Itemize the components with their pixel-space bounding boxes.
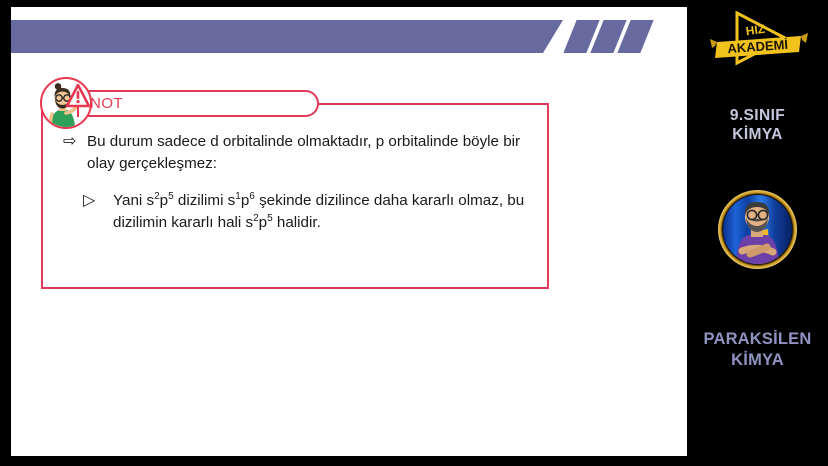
note-body: ⇨ Bu durum sadece d orbitalinde olmaktad… xyxy=(63,131,535,237)
note-paragraph-1: ⇨ Bu durum sadece d orbitalinde olmaktad… xyxy=(63,131,535,174)
course-grade-line2: KİMYA xyxy=(687,125,828,144)
right-arrow-bullet-icon: ⇨ xyxy=(63,131,87,174)
slide-canvas: ⇨ Bu durum sadece d orbitalinde olmaktad… xyxy=(11,7,687,456)
note-card: ⇨ Bu durum sadece d orbitalinde olmaktad… xyxy=(41,103,549,289)
right-sidebar: HIZ AKADEMİ 9.SINIF KİMYA xyxy=(687,0,828,466)
note-label-text: NOT xyxy=(90,95,123,112)
slide-header-decoration xyxy=(11,20,687,53)
course-grade-title: 9.SINIF KİMYA xyxy=(687,106,828,145)
note-paragraph-1-text: Bu durum sadece d orbitalinde olmaktadır… xyxy=(87,131,535,174)
note-paragraph-2-text: Yani s2p5 dizilimi s1p6 şekinde dizilinc… xyxy=(113,190,535,233)
instructor-avatar xyxy=(718,190,797,269)
brand-line1: PARAKSİLEN xyxy=(687,329,828,350)
note-paragraph-2: ▷ Yani s2p5 dizilimi s1p6 şekinde dizili… xyxy=(83,190,535,233)
brand-title: PARAKSİLEN KİMYA xyxy=(687,329,828,372)
header-bar xyxy=(11,20,563,53)
course-grade-line1: 9.SINIF xyxy=(687,106,828,125)
triangle-bullet-icon: ▷ xyxy=(83,190,113,233)
screenshot-root: ⇨ Bu durum sadece d orbitalinde olmaktad… xyxy=(0,0,828,466)
note-label-pill: NOT xyxy=(55,90,319,117)
svg-text:HIZ: HIZ xyxy=(745,22,766,39)
instructor-avatar-photo xyxy=(723,195,792,264)
hiz-akademi-logo: HIZ AKADEMİ xyxy=(701,7,815,69)
warning-character-icon xyxy=(40,77,92,129)
brand-line2: KİMYA xyxy=(687,350,828,371)
